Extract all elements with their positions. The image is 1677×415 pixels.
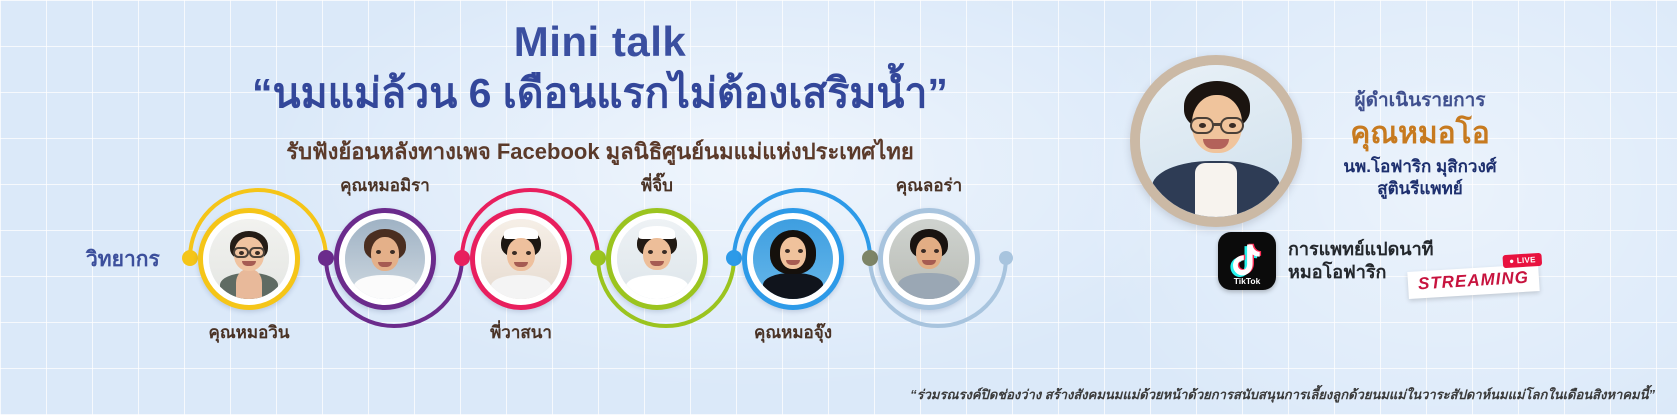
speaker-card-2[interactable]: คุณหมอมิรา	[334, 208, 436, 310]
footer-tagline: “ร่วมรณรงค์ปิดช่องว่าง สร้างสังคมนมแม่ด้…	[0, 384, 1655, 405]
speaker-avatar-ring-2	[334, 208, 436, 310]
headline-block: Mini talk “นมแม่ล้วน 6 เดือนแรกไม่ต้องเส…	[120, 18, 1080, 169]
speaker-card-4[interactable]: พี่จิ๊บ	[606, 208, 708, 310]
speaker-name-3: พี่วาสนา	[411, 319, 631, 346]
avatar	[889, 219, 969, 299]
host-nickname: คุณหมอโอ	[1315, 117, 1525, 150]
avatar	[617, 219, 697, 299]
speaker-avatar-ring-4	[606, 208, 708, 310]
tiktok-icon[interactable]: TikTok	[1218, 232, 1276, 290]
speaker-name-4: พี่จิ๊บ	[547, 172, 767, 199]
speaker-avatar-ring-5	[742, 208, 844, 310]
host-avatar-ring	[1130, 55, 1302, 227]
avatar	[209, 219, 289, 299]
host-role-label: ผู้ดำเนินรายการ	[1315, 85, 1525, 115]
host-specialty: สูตินรีแพทย์	[1315, 178, 1525, 200]
page-title: Mini talk	[120, 18, 1080, 66]
speaker-name-5: คุณหมอจุ๊ง	[683, 319, 903, 346]
page-subtitle-quote: “นมแม่ล้วน 6 เดือนแรกไม่ต้องเสริมน้ำ”	[120, 68, 1080, 119]
tiktok-wordmark: TikTok	[1218, 276, 1276, 286]
speaker-name-2: คุณหมอมิรา	[275, 172, 495, 199]
social-channel-row[interactable]: TikTok การแพทย์แปดนาที หมอโอฟาริก	[1218, 232, 1434, 290]
speakers-section-label: วิทยากร	[86, 243, 160, 276]
speaker-avatar-ring-6	[878, 208, 980, 310]
avatar	[345, 219, 425, 299]
speaker-card-5[interactable]: คุณหมอจุ๊ง	[742, 208, 844, 310]
webinar-promo-banner: Mini talk “นมแม่ล้วน 6 เดือนแรกไม่ต้องเส…	[0, 0, 1677, 415]
host-info: ผู้ดำเนินรายการ คุณหมอโอ นพ.โอฟาริก มุสิ…	[1315, 85, 1525, 200]
replay-info-text: รับฟังย้อนหลังทางเพจ Facebook มูลนิธิศูน…	[120, 134, 1080, 169]
speaker-avatar-ring-1	[198, 208, 300, 310]
channel-name-line1: การแพทย์แปดนาที	[1288, 238, 1434, 261]
avatar	[753, 219, 833, 299]
speaker-card-6[interactable]: คุณลอร่า	[878, 208, 980, 310]
host-avatar	[1140, 65, 1292, 217]
speaker-card-3[interactable]: พี่วาสนา	[470, 208, 572, 310]
speaker-avatar-ring-3	[470, 208, 572, 310]
avatar	[481, 219, 561, 299]
live-badge: ● LIVE	[1503, 253, 1542, 268]
host-real-name: นพ.โอฟาริก มุสิกวงศ์	[1315, 156, 1525, 178]
speaker-name-1: คุณหมอวิน	[139, 319, 359, 346]
streaming-badge-text: STREAMING	[1417, 268, 1529, 294]
speaker-name-6: คุณลอร่า	[819, 172, 1039, 199]
speaker-card-1[interactable]: คุณหมอวิน	[198, 208, 300, 310]
